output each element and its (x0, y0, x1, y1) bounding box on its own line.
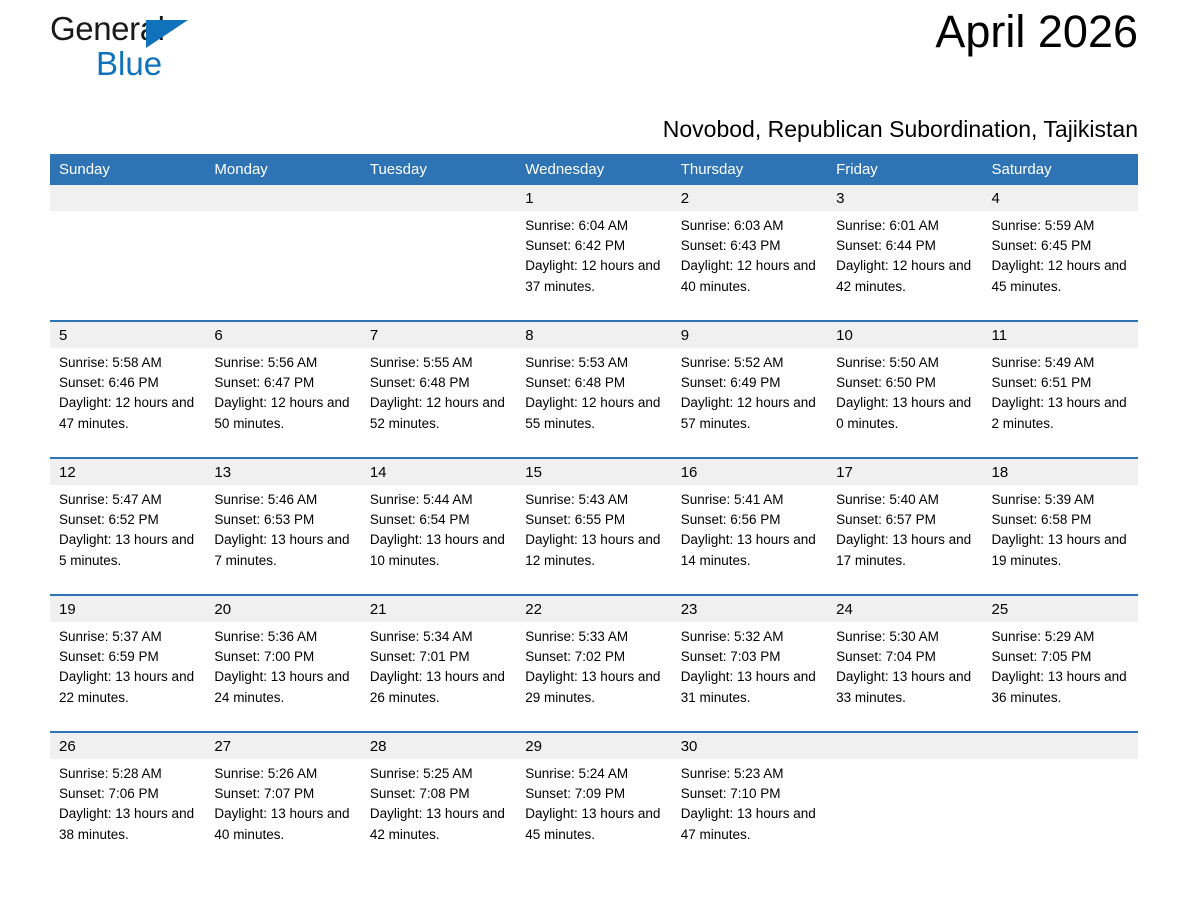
logo-text-blue: Blue (96, 47, 200, 81)
calendar-day-cell[interactable]: 15Sunrise: 5:43 AMSunset: 6:55 PMDayligh… (516, 458, 671, 595)
daylight-text: Daylight: 13 hours and 45 minutes. (525, 804, 665, 844)
day-number: 22 (516, 596, 671, 622)
calendar-page: General Blue April 2026 Novobod, Republi… (0, 0, 1188, 918)
calendar-day-cell[interactable]: 3Sunrise: 6:01 AMSunset: 6:44 PMDaylight… (827, 185, 982, 321)
daylight-text: Daylight: 13 hours and 0 minutes. (836, 393, 976, 433)
day-number (205, 185, 360, 211)
day-number: 18 (983, 459, 1138, 485)
sunrise-text: Sunrise: 5:56 AM (214, 353, 354, 373)
day-number: 26 (50, 733, 205, 759)
day-details: Sunrise: 5:59 AMSunset: 6:45 PMDaylight:… (983, 211, 1138, 297)
title-block: April 2026 (935, 0, 1138, 58)
calendar-body: 1Sunrise: 6:04 AMSunset: 6:42 PMDaylight… (50, 185, 1138, 868)
calendar-day-cell[interactable]: 24Sunrise: 5:30 AMSunset: 7:04 PMDayligh… (827, 595, 982, 732)
weekday-header-wednesday: Wednesday (516, 154, 671, 185)
sunrise-text: Sunrise: 6:04 AM (525, 216, 665, 236)
sunset-text: Sunset: 6:44 PM (836, 236, 976, 256)
weekday-header-friday: Friday (827, 154, 982, 185)
calendar-day-cell-empty (827, 732, 982, 868)
day-details: Sunrise: 5:39 AMSunset: 6:58 PMDaylight:… (983, 485, 1138, 571)
day-details: Sunrise: 5:37 AMSunset: 6:59 PMDaylight:… (50, 622, 205, 708)
daylight-text: Daylight: 13 hours and 5 minutes. (59, 530, 199, 570)
calendar-day-cell[interactable]: 6Sunrise: 5:56 AMSunset: 6:47 PMDaylight… (205, 321, 360, 458)
sunrise-text: Sunrise: 5:59 AM (992, 216, 1132, 236)
sunset-text: Sunset: 7:09 PM (525, 784, 665, 804)
calendar-week-row: 1Sunrise: 6:04 AMSunset: 6:42 PMDaylight… (50, 185, 1138, 321)
day-details: Sunrise: 5:25 AMSunset: 7:08 PMDaylight:… (361, 759, 516, 845)
day-number: 13 (205, 459, 360, 485)
calendar-day-cell[interactable]: 12Sunrise: 5:47 AMSunset: 6:52 PMDayligh… (50, 458, 205, 595)
sunrise-text: Sunrise: 6:03 AM (681, 216, 821, 236)
sunset-text: Sunset: 7:04 PM (836, 647, 976, 667)
day-number: 16 (672, 459, 827, 485)
daylight-text: Daylight: 12 hours and 52 minutes. (370, 393, 510, 433)
daylight-text: Daylight: 13 hours and 36 minutes. (992, 667, 1132, 707)
page-header: General Blue April 2026 (50, 0, 1138, 110)
daylight-text: Daylight: 12 hours and 40 minutes. (681, 256, 821, 296)
sunrise-text: Sunrise: 5:46 AM (214, 490, 354, 510)
calendar-day-cell[interactable]: 20Sunrise: 5:36 AMSunset: 7:00 PMDayligh… (205, 595, 360, 732)
page-title: April 2026 (935, 6, 1138, 58)
sunrise-text: Sunrise: 5:25 AM (370, 764, 510, 784)
sunrise-text: Sunrise: 5:23 AM (681, 764, 821, 784)
sunrise-text: Sunrise: 5:44 AM (370, 490, 510, 510)
sunset-text: Sunset: 7:10 PM (681, 784, 821, 804)
weekday-header-monday: Monday (205, 154, 360, 185)
calendar-week-row: 26Sunrise: 5:28 AMSunset: 7:06 PMDayligh… (50, 732, 1138, 868)
calendar-day-cell-empty (361, 185, 516, 321)
calendar-day-cell[interactable]: 26Sunrise: 5:28 AMSunset: 7:06 PMDayligh… (50, 732, 205, 868)
daylight-text: Daylight: 13 hours and 22 minutes. (59, 667, 199, 707)
day-number: 7 (361, 322, 516, 348)
location-subtitle: Novobod, Republican Subordination, Tajik… (50, 114, 1138, 144)
day-number: 9 (672, 322, 827, 348)
calendar-day-cell[interactable]: 9Sunrise: 5:52 AMSunset: 6:49 PMDaylight… (672, 321, 827, 458)
calendar-day-cell[interactable]: 2Sunrise: 6:03 AMSunset: 6:43 PMDaylight… (672, 185, 827, 321)
day-number: 21 (361, 596, 516, 622)
sunrise-text: Sunrise: 5:29 AM (992, 627, 1132, 647)
sunset-text: Sunset: 7:05 PM (992, 647, 1132, 667)
sunset-text: Sunset: 6:48 PM (370, 373, 510, 393)
day-number: 17 (827, 459, 982, 485)
daylight-text: Daylight: 12 hours and 42 minutes. (836, 256, 976, 296)
daylight-text: Daylight: 12 hours and 57 minutes. (681, 393, 821, 433)
day-number (983, 733, 1138, 759)
calendar-day-cell[interactable]: 1Sunrise: 6:04 AMSunset: 6:42 PMDaylight… (516, 185, 671, 321)
day-number (361, 185, 516, 211)
sunset-text: Sunset: 6:57 PM (836, 510, 976, 530)
sunrise-text: Sunrise: 5:26 AM (214, 764, 354, 784)
daylight-text: Daylight: 12 hours and 55 minutes. (525, 393, 665, 433)
sunrise-text: Sunrise: 5:39 AM (992, 490, 1132, 510)
calendar-day-cell[interactable]: 4Sunrise: 5:59 AMSunset: 6:45 PMDaylight… (983, 185, 1138, 321)
daylight-text: Daylight: 13 hours and 29 minutes. (525, 667, 665, 707)
day-details: Sunrise: 5:52 AMSunset: 6:49 PMDaylight:… (672, 348, 827, 434)
day-details: Sunrise: 5:24 AMSunset: 7:09 PMDaylight:… (516, 759, 671, 845)
daylight-text: Daylight: 12 hours and 47 minutes. (59, 393, 199, 433)
day-number: 14 (361, 459, 516, 485)
daylight-text: Daylight: 12 hours and 45 minutes. (992, 256, 1132, 296)
day-details: Sunrise: 5:32 AMSunset: 7:03 PMDaylight:… (672, 622, 827, 708)
sunrise-text: Sunrise: 5:52 AM (681, 353, 821, 373)
daylight-text: Daylight: 13 hours and 17 minutes. (836, 530, 976, 570)
calendar-week-row: 12Sunrise: 5:47 AMSunset: 6:52 PMDayligh… (50, 458, 1138, 595)
calendar-day-cell[interactable]: 11Sunrise: 5:49 AMSunset: 6:51 PMDayligh… (983, 321, 1138, 458)
sunset-text: Sunset: 6:50 PM (836, 373, 976, 393)
sunset-text: Sunset: 7:01 PM (370, 647, 510, 667)
daylight-text: Daylight: 13 hours and 40 minutes. (214, 804, 354, 844)
day-number: 10 (827, 322, 982, 348)
day-number: 23 (672, 596, 827, 622)
day-number: 24 (827, 596, 982, 622)
day-number: 20 (205, 596, 360, 622)
day-details: Sunrise: 5:34 AMSunset: 7:01 PMDaylight:… (361, 622, 516, 708)
calendar-header-row: Sunday Monday Tuesday Wednesday Thursday… (50, 154, 1138, 185)
daylight-text: Daylight: 13 hours and 10 minutes. (370, 530, 510, 570)
sunrise-text: Sunrise: 5:40 AM (836, 490, 976, 510)
daylight-text: Daylight: 13 hours and 31 minutes. (681, 667, 821, 707)
daylight-text: Daylight: 13 hours and 33 minutes. (836, 667, 976, 707)
sunset-text: Sunset: 6:46 PM (59, 373, 199, 393)
generalblue-logo[interactable]: General Blue (50, 12, 200, 92)
day-number: 25 (983, 596, 1138, 622)
sunrise-text: Sunrise: 5:43 AM (525, 490, 665, 510)
sunrise-text: Sunrise: 5:30 AM (836, 627, 976, 647)
weekday-header-sunday: Sunday (50, 154, 205, 185)
sunrise-text: Sunrise: 5:50 AM (836, 353, 976, 373)
daylight-text: Daylight: 13 hours and 38 minutes. (59, 804, 199, 844)
daylight-text: Daylight: 12 hours and 37 minutes. (525, 256, 665, 296)
day-details: Sunrise: 5:47 AMSunset: 6:52 PMDaylight:… (50, 485, 205, 571)
sunrise-text: Sunrise: 5:41 AM (681, 490, 821, 510)
sunset-text: Sunset: 6:47 PM (214, 373, 354, 393)
day-number (827, 733, 982, 759)
sunset-text: Sunset: 7:06 PM (59, 784, 199, 804)
daylight-text: Daylight: 13 hours and 14 minutes. (681, 530, 821, 570)
day-details: Sunrise: 5:28 AMSunset: 7:06 PMDaylight:… (50, 759, 205, 845)
daylight-text: Daylight: 13 hours and 47 minutes. (681, 804, 821, 844)
day-details: Sunrise: 5:30 AMSunset: 7:04 PMDaylight:… (827, 622, 982, 708)
calendar-day-cell[interactable]: 19Sunrise: 5:37 AMSunset: 6:59 PMDayligh… (50, 595, 205, 732)
sunset-text: Sunset: 6:51 PM (992, 373, 1132, 393)
sunset-text: Sunset: 7:00 PM (214, 647, 354, 667)
daylight-text: Daylight: 13 hours and 19 minutes. (992, 530, 1132, 570)
weekday-header-saturday: Saturday (983, 154, 1138, 185)
day-details: Sunrise: 5:41 AMSunset: 6:56 PMDaylight:… (672, 485, 827, 571)
day-details: Sunrise: 5:50 AMSunset: 6:50 PMDaylight:… (827, 348, 982, 434)
day-details: Sunrise: 5:36 AMSunset: 7:00 PMDaylight:… (205, 622, 360, 708)
sunrise-text: Sunrise: 5:33 AM (525, 627, 665, 647)
day-details: Sunrise: 5:26 AMSunset: 7:07 PMDaylight:… (205, 759, 360, 845)
calendar-day-cell-empty (983, 732, 1138, 868)
day-number: 8 (516, 322, 671, 348)
triangle-icon (146, 20, 188, 48)
sunrise-text: Sunrise: 5:55 AM (370, 353, 510, 373)
calendar-day-cell[interactable]: 21Sunrise: 5:34 AMSunset: 7:01 PMDayligh… (361, 595, 516, 732)
calendar-day-cell[interactable]: 5Sunrise: 5:58 AMSunset: 6:46 PMDaylight… (50, 321, 205, 458)
day-details: Sunrise: 5:40 AMSunset: 6:57 PMDaylight:… (827, 485, 982, 571)
sunrise-text: Sunrise: 5:37 AM (59, 627, 199, 647)
day-number: 2 (672, 185, 827, 211)
calendar-day-cell[interactable]: 14Sunrise: 5:44 AMSunset: 6:54 PMDayligh… (361, 458, 516, 595)
daylight-text: Daylight: 13 hours and 24 minutes. (214, 667, 354, 707)
sunrise-text: Sunrise: 6:01 AM (836, 216, 976, 236)
day-details: Sunrise: 5:53 AMSunset: 6:48 PMDaylight:… (516, 348, 671, 434)
sunset-text: Sunset: 7:02 PM (525, 647, 665, 667)
sunrise-text: Sunrise: 5:34 AM (370, 627, 510, 647)
sunrise-text: Sunrise: 5:28 AM (59, 764, 199, 784)
calendar-week-row: 19Sunrise: 5:37 AMSunset: 6:59 PMDayligh… (50, 595, 1138, 732)
day-number: 4 (983, 185, 1138, 211)
day-details: Sunrise: 5:43 AMSunset: 6:55 PMDaylight:… (516, 485, 671, 571)
calendar-day-cell[interactable]: 16Sunrise: 5:41 AMSunset: 6:56 PMDayligh… (672, 458, 827, 595)
sunset-text: Sunset: 6:55 PM (525, 510, 665, 530)
day-number: 11 (983, 322, 1138, 348)
sunset-text: Sunset: 7:07 PM (214, 784, 354, 804)
weekday-header-thursday: Thursday (672, 154, 827, 185)
sunset-text: Sunset: 6:56 PM (681, 510, 821, 530)
calendar-day-cell[interactable]: 10Sunrise: 5:50 AMSunset: 6:50 PMDayligh… (827, 321, 982, 458)
sunset-text: Sunset: 7:03 PM (681, 647, 821, 667)
sunrise-text: Sunrise: 5:58 AM (59, 353, 199, 373)
sunset-text: Sunset: 6:48 PM (525, 373, 665, 393)
day-number (50, 185, 205, 211)
calendar-day-cell[interactable]: 27Sunrise: 5:26 AMSunset: 7:07 PMDayligh… (205, 732, 360, 868)
day-number: 28 (361, 733, 516, 759)
sunrise-text: Sunrise: 5:49 AM (992, 353, 1132, 373)
day-details: Sunrise: 5:44 AMSunset: 6:54 PMDaylight:… (361, 485, 516, 571)
day-details: Sunrise: 5:29 AMSunset: 7:05 PMDaylight:… (983, 622, 1138, 708)
sunset-text: Sunset: 6:58 PM (992, 510, 1132, 530)
calendar-day-cell[interactable]: 22Sunrise: 5:33 AMSunset: 7:02 PMDayligh… (516, 595, 671, 732)
daylight-text: Daylight: 13 hours and 42 minutes. (370, 804, 510, 844)
calendar-day-cell-empty (50, 185, 205, 321)
day-details: Sunrise: 5:49 AMSunset: 6:51 PMDaylight:… (983, 348, 1138, 434)
day-number: 6 (205, 322, 360, 348)
sunrise-text: Sunrise: 5:32 AM (681, 627, 821, 647)
sunset-text: Sunset: 6:54 PM (370, 510, 510, 530)
day-details: Sunrise: 5:56 AMSunset: 6:47 PMDaylight:… (205, 348, 360, 434)
calendar-day-cell[interactable]: 7Sunrise: 5:55 AMSunset: 6:48 PMDaylight… (361, 321, 516, 458)
day-number: 15 (516, 459, 671, 485)
sunset-text: Sunset: 6:52 PM (59, 510, 199, 530)
sunrise-text: Sunrise: 5:24 AM (525, 764, 665, 784)
calendar-day-cell[interactable]: 28Sunrise: 5:25 AMSunset: 7:08 PMDayligh… (361, 732, 516, 868)
sunrise-text: Sunrise: 5:47 AM (59, 490, 199, 510)
day-number: 5 (50, 322, 205, 348)
sunset-text: Sunset: 6:49 PM (681, 373, 821, 393)
day-details: Sunrise: 5:55 AMSunset: 6:48 PMDaylight:… (361, 348, 516, 434)
weekday-header-tuesday: Tuesday (361, 154, 516, 185)
daylight-text: Daylight: 13 hours and 7 minutes. (214, 530, 354, 570)
day-number: 19 (50, 596, 205, 622)
calendar-day-cell[interactable]: 18Sunrise: 5:39 AMSunset: 6:58 PMDayligh… (983, 458, 1138, 595)
day-details: Sunrise: 6:04 AMSunset: 6:42 PMDaylight:… (516, 211, 671, 297)
sunset-text: Sunset: 6:59 PM (59, 647, 199, 667)
calendar-day-cell[interactable]: 17Sunrise: 5:40 AMSunset: 6:57 PMDayligh… (827, 458, 982, 595)
day-details: Sunrise: 5:33 AMSunset: 7:02 PMDaylight:… (516, 622, 671, 708)
calendar-day-cell-empty (205, 185, 360, 321)
sunset-text: Sunset: 6:42 PM (525, 236, 665, 256)
sunrise-text: Sunrise: 5:36 AM (214, 627, 354, 647)
day-number: 30 (672, 733, 827, 759)
day-details: Sunrise: 5:46 AMSunset: 6:53 PMDaylight:… (205, 485, 360, 571)
sunrise-text: Sunrise: 5:53 AM (525, 353, 665, 373)
daylight-text: Daylight: 13 hours and 26 minutes. (370, 667, 510, 707)
sunset-text: Sunset: 7:08 PM (370, 784, 510, 804)
calendar-day-cell[interactable]: 8Sunrise: 5:53 AMSunset: 6:48 PMDaylight… (516, 321, 671, 458)
sunset-text: Sunset: 6:43 PM (681, 236, 821, 256)
day-details: Sunrise: 5:58 AMSunset: 6:46 PMDaylight:… (50, 348, 205, 434)
day-number: 1 (516, 185, 671, 211)
daylight-text: Daylight: 13 hours and 12 minutes. (525, 530, 665, 570)
calendar-day-cell[interactable]: 29Sunrise: 5:24 AMSunset: 7:09 PMDayligh… (516, 732, 671, 868)
day-details: Sunrise: 6:03 AMSunset: 6:43 PMDaylight:… (672, 211, 827, 297)
calendar-day-cell[interactable]: 13Sunrise: 5:46 AMSunset: 6:53 PMDayligh… (205, 458, 360, 595)
daylight-text: Daylight: 12 hours and 50 minutes. (214, 393, 354, 433)
day-number: 27 (205, 733, 360, 759)
calendar-day-cell[interactable]: 23Sunrise: 5:32 AMSunset: 7:03 PMDayligh… (672, 595, 827, 732)
calendar-day-cell[interactable]: 25Sunrise: 5:29 AMSunset: 7:05 PMDayligh… (983, 595, 1138, 732)
day-number: 3 (827, 185, 982, 211)
day-details: Sunrise: 5:23 AMSunset: 7:10 PMDaylight:… (672, 759, 827, 845)
day-details: Sunrise: 6:01 AMSunset: 6:44 PMDaylight:… (827, 211, 982, 297)
calendar-day-cell[interactable]: 30Sunrise: 5:23 AMSunset: 7:10 PMDayligh… (672, 732, 827, 868)
day-number: 29 (516, 733, 671, 759)
calendar-week-row: 5Sunrise: 5:58 AMSunset: 6:46 PMDaylight… (50, 321, 1138, 458)
sunrise-sunset-calendar: Sunday Monday Tuesday Wednesday Thursday… (50, 154, 1138, 868)
sunset-text: Sunset: 6:45 PM (992, 236, 1132, 256)
daylight-text: Daylight: 13 hours and 2 minutes. (992, 393, 1132, 433)
day-number: 12 (50, 459, 205, 485)
sunset-text: Sunset: 6:53 PM (214, 510, 354, 530)
